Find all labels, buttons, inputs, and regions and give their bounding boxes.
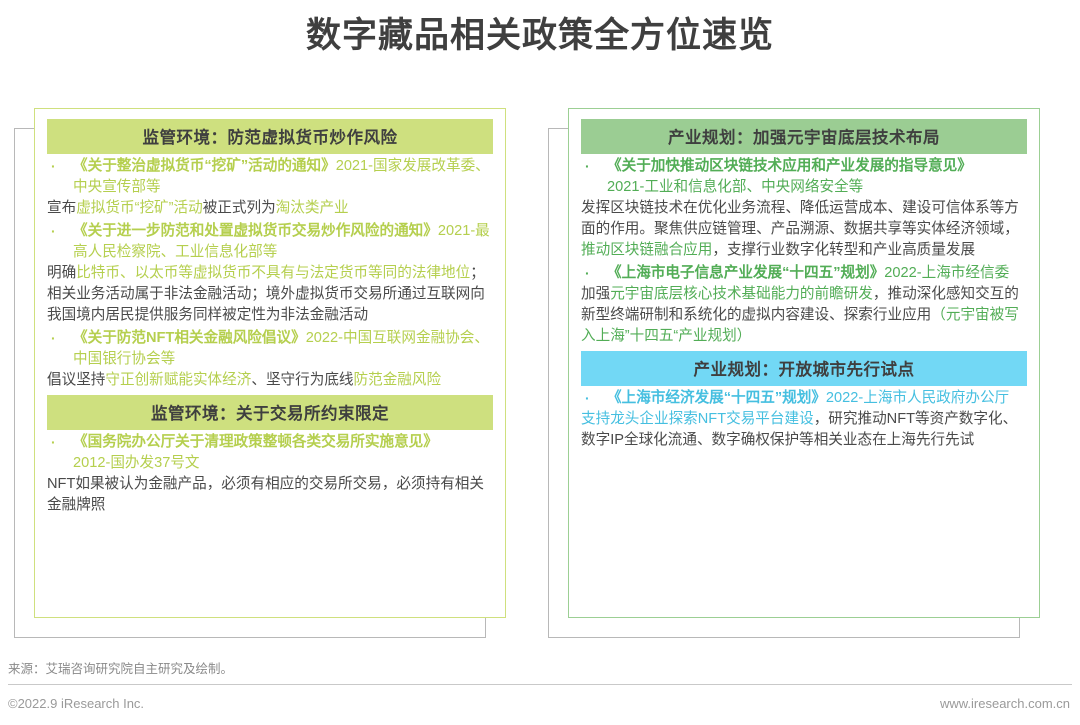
policy-entry: ·《关于整治虚拟货币“挖矿”活动的通知》2021-国家发展改革委、中央宣传部等 … bbox=[47, 156, 493, 219]
policy-description: 宣布虚拟货币“挖矿”活动被正式列为淘汰类产业 bbox=[47, 198, 493, 219]
desc-highlight: 防范金融风险 bbox=[354, 372, 442, 388]
policy-title-line: ·《国务院办公厅关于清理政策整顿各类交易所实施意见》 bbox=[47, 432, 493, 453]
policy-content-right: 产业规划：加强元宇宙底层技术布局 ·《关于加快推动区块链技术应用和产业发展的指导… bbox=[568, 108, 1040, 618]
page-title: 数字藏品相关政策全方位速览 bbox=[0, 12, 1080, 60]
policy-title-line: ·《关于进一步防范和处置虚拟货币交易炒作风险的通知》2021-最高人民检察院、工… bbox=[47, 221, 493, 263]
section-industry-pilot-cities: 产业规划：开放城市先行试点 ·《上海市经济发展“十四五”规划》2022-上海市人… bbox=[581, 351, 1027, 451]
section-header: 产业规划：开放城市先行试点 bbox=[581, 351, 1027, 386]
policy-doc-name: 《关于防范NFT相关金融风险倡议》 bbox=[73, 330, 306, 346]
policy-entry: ·《关于进一步防范和处置虚拟货币交易炒作风险的通知》2021-最高人民检察院、工… bbox=[47, 221, 493, 326]
policy-content-left: 监管环境：防范虚拟货币炒作风险 ·《关于整治虚拟货币“挖矿”活动的通知》2021… bbox=[34, 108, 506, 618]
policy-description: 支持龙头企业探索NFT交易平台建设，研究推动NFT等资产数字化、数字IP全球化流… bbox=[581, 409, 1027, 451]
policy-meta-line: 2012-国办发37号文 bbox=[47, 453, 493, 474]
policy-doc-name: 《国务院办公厅关于清理政策整顿各类交易所实施意见》 bbox=[73, 434, 438, 450]
policy-entry: ·《上海市经济发展“十四五”规划》2022-上海市人民政府办公厅 支持龙头企业探… bbox=[581, 388, 1027, 451]
desc-part: 被正式列为 bbox=[203, 200, 276, 216]
desc-highlight: 淘汰类产业 bbox=[276, 200, 349, 216]
policy-title-line: ·《上海市电子信息产业发展“十四五”规划》2022-上海市经信委 bbox=[581, 263, 1027, 284]
desc-part: 明确 bbox=[47, 265, 76, 281]
source-note: 来源：艾瑞咨询研究院自主研究及绘制。 bbox=[8, 658, 233, 677]
policy-description: 倡议坚持守正创新赋能实体经济、坚守行为底线防范金融风险 bbox=[47, 370, 493, 391]
policy-entry: ·《国务院办公厅关于清理政策整顿各类交易所实施意见》 2012-国办发37号文 … bbox=[47, 432, 493, 516]
bullet-icon: · bbox=[51, 156, 56, 177]
section-header: 监管环境：防范虚拟货币炒作风险 bbox=[47, 119, 493, 154]
policy-panel-right: 产业规划：加强元宇宙底层技术布局 ·《关于加快推动区块链技术应用和产业发展的指导… bbox=[548, 108, 1040, 638]
policy-description: 发挥区块链技术在优化业务流程、降低运营成本、建设可信体系等方面的作用。聚焦供应链… bbox=[581, 198, 1027, 261]
policy-description: NFT如果被认为金融产品，必须有相应的交易所交易，必须持有相关金融牌照 bbox=[47, 474, 493, 516]
desc-highlight: 虚拟货币“挖矿”活动 bbox=[76, 200, 202, 216]
section-regulation-speculation: 监管环境：防范虚拟货币炒作风险 ·《关于整治虚拟货币“挖矿”活动的通知》2021… bbox=[47, 119, 493, 391]
desc-part: 加强 bbox=[581, 286, 610, 302]
bullet-icon: · bbox=[585, 263, 590, 284]
section-header: 产业规划：加强元宇宙底层技术布局 bbox=[581, 119, 1027, 154]
policy-entry: ·《上海市电子信息产业发展“十四五”规划》2022-上海市经信委 加强元宇宙底层… bbox=[581, 263, 1027, 347]
policy-meta: 2021-工业和信息化部、中央网络安全等 bbox=[607, 179, 863, 195]
policy-meta-line: 2021-工业和信息化部、中央网络安全等 bbox=[581, 177, 1027, 198]
policy-entry: ·《关于防范NFT相关金融风险倡议》2022-中国互联网金融协会、中国银行协会等… bbox=[47, 328, 493, 391]
desc-highlight: 比特币、以太币等虚拟货币不具有与法定货币等同的法律地位 bbox=[76, 265, 470, 281]
desc-highlight: 元宇宙底层核心技术基础能力的前瞻研发 bbox=[610, 286, 873, 302]
desc-highlight: 守正创新赋能实体经济 bbox=[105, 372, 251, 388]
bullet-icon: · bbox=[51, 432, 56, 453]
desc-part: 发挥区块链技术在优化业务流程、降低运营成本、建设可信体系等方面的作用。聚焦供应链… bbox=[581, 200, 1019, 237]
policy-doc-name: 《上海市电子信息产业发展“十四五”规划》 bbox=[607, 265, 884, 281]
policy-panel-left: 监管环境：防范虚拟货币炒作风险 ·《关于整治虚拟货币“挖矿”活动的通知》2021… bbox=[14, 108, 506, 638]
copyright-text: ©2022.9 iResearch Inc. bbox=[8, 696, 144, 711]
slide-root: 数字藏品相关政策全方位速览 监管环境：防范虚拟货币炒作风险 ·《关于整治虚拟货币… bbox=[0, 0, 1080, 725]
section-regulation-exchange: 监管环境：关于交易所约束限定 ·《国务院办公厅关于清理政策整顿各类交易所实施意见… bbox=[47, 395, 493, 516]
policy-entry: ·《关于加快推动区块链技术应用和产业发展的指导意见》 2021-工业和信息化部、… bbox=[581, 156, 1027, 261]
policy-meta: 2012-国办发37号文 bbox=[73, 455, 200, 471]
desc-part: 宣布 bbox=[47, 200, 76, 216]
policy-doc-name: 《关于整治虚拟货币“挖矿”活动的通知》 bbox=[73, 158, 336, 174]
policy-title-line: ·《关于整治虚拟货币“挖矿”活动的通知》2021-国家发展改革委、中央宣传部等 bbox=[47, 156, 493, 198]
footer-divider bbox=[8, 684, 1072, 685]
desc-part: 、坚守行为底线 bbox=[251, 372, 353, 388]
desc-highlight: 推动区块链融合应用 bbox=[581, 242, 712, 258]
policy-doc-name: 《关于加快推动区块链技术应用和产业发展的指导意见》 bbox=[607, 158, 972, 174]
section-industry-metaverse: 产业规划：加强元宇宙底层技术布局 ·《关于加快推动区块链技术应用和产业发展的指导… bbox=[581, 119, 1027, 347]
section-header: 监管环境：关于交易所约束限定 bbox=[47, 395, 493, 430]
website-url: www.iresearch.com.cn bbox=[940, 696, 1070, 711]
policy-meta: 2022-上海市经信委 bbox=[884, 265, 1009, 281]
bullet-icon: · bbox=[51, 328, 56, 349]
desc-part: 倡议坚持 bbox=[47, 372, 105, 388]
bullet-icon: · bbox=[51, 221, 56, 242]
policy-description: 加强元宇宙底层核心技术基础能力的前瞻研发，推动深化感知交互的新型终端研制和系统化… bbox=[581, 284, 1027, 347]
desc-part: NFT如果被认为金融产品，必须有相应的交易所交易，必须持有相关金融牌照 bbox=[47, 476, 484, 513]
policy-title-line: ·《关于加快推动区块链技术应用和产业发展的指导意见》 bbox=[581, 156, 1027, 177]
desc-highlight: 支持龙头企业探索NFT交易平台建设 bbox=[581, 411, 814, 427]
policy-title-line: ·《上海市经济发展“十四五”规划》2022-上海市人民政府办公厅 bbox=[581, 388, 1027, 409]
policy-title-line: ·《关于防范NFT相关金融风险倡议》2022-中国互联网金融协会、中国银行协会等 bbox=[47, 328, 493, 370]
desc-part: ，支撑行业数字化转型和产业高质量发展 bbox=[712, 242, 975, 258]
policy-description: 明确比特币、以太币等虚拟货币不具有与法定货币等同的法律地位；相关业务活动属于非法… bbox=[47, 263, 493, 326]
policy-doc-name: 《关于进一步防范和处置虚拟货币交易炒作风险的通知》 bbox=[73, 223, 438, 239]
policy-meta: 2022-上海市人民政府办公厅 bbox=[826, 390, 1009, 406]
bullet-icon: · bbox=[585, 388, 590, 409]
policy-doc-name: 《上海市经济发展“十四五”规划》 bbox=[607, 390, 826, 406]
bullet-icon: · bbox=[585, 156, 590, 177]
panels-container: 监管环境：防范虚拟货币炒作风险 ·《关于整治虚拟货币“挖矿”活动的通知》2021… bbox=[0, 108, 1080, 648]
